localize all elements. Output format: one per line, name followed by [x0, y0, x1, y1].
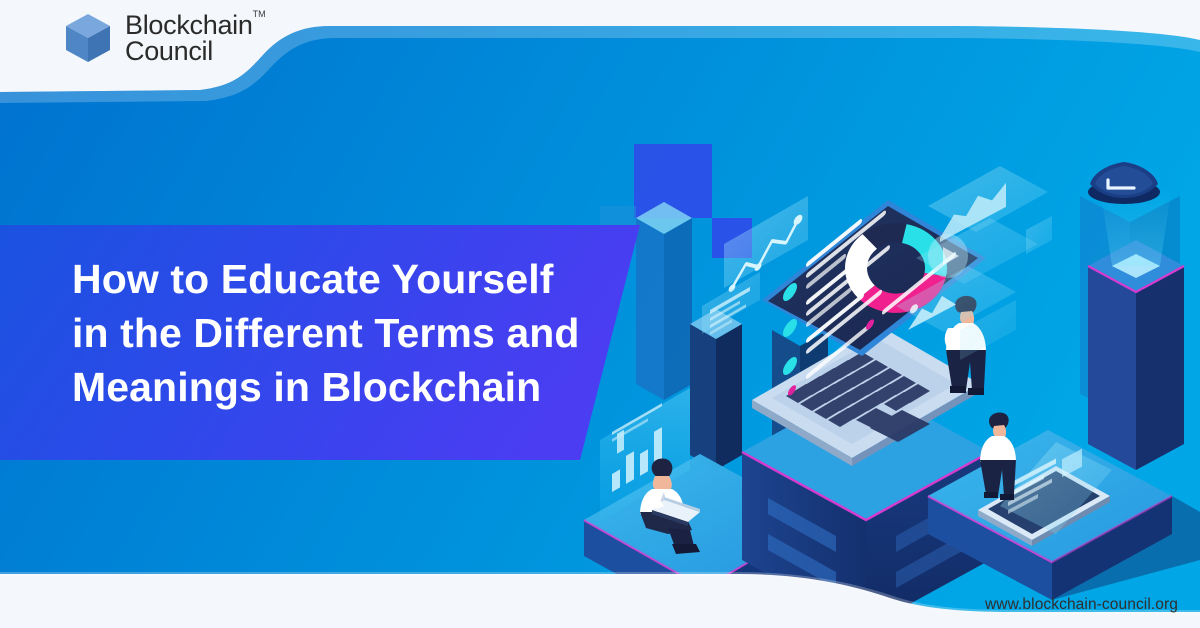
title-line-2: in the Different Terms and	[72, 306, 632, 360]
footer-website-url[interactable]: www.blockchain-council.org	[985, 596, 1178, 614]
title-line-3: Meanings in Blockchain	[72, 360, 632, 414]
title-line-1: How to Educate Yourself	[72, 252, 632, 306]
page-title: How to Educate Yourself in the Different…	[72, 252, 632, 414]
brand-logo[interactable]: Blockchain Council TM	[62, 10, 253, 66]
trademark-symbol: TM	[253, 10, 266, 19]
cube-icon	[62, 10, 114, 66]
brand-logo-text: Blockchain Council TM	[125, 12, 253, 65]
footer-curve	[0, 550, 1200, 628]
blog-banner: How to Educate Yourself in the Different…	[0, 0, 1200, 628]
brand-logo-line2: Council	[125, 38, 253, 64]
brand-logo-line1: Blockchain	[125, 12, 253, 38]
